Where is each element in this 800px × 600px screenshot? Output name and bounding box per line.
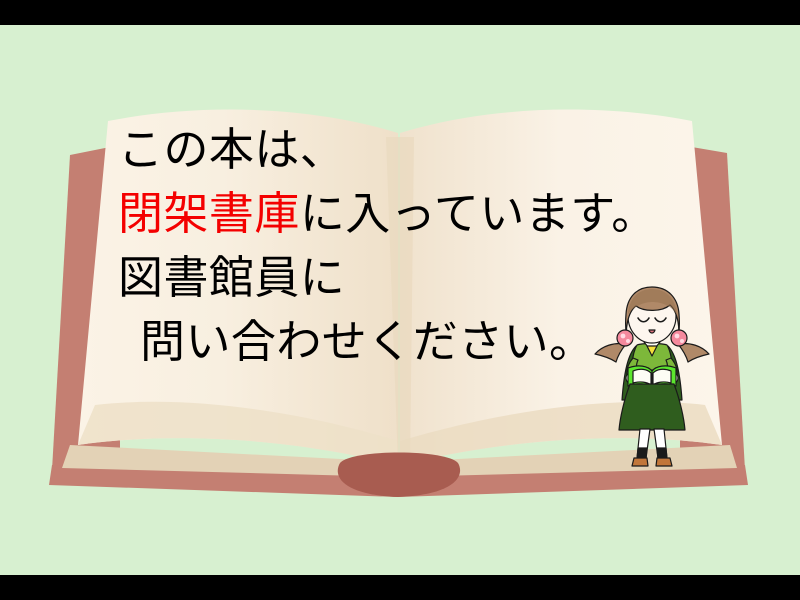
reading-girl-illustration xyxy=(592,272,712,472)
mouth xyxy=(649,330,655,333)
letterbox-bottom xyxy=(0,575,800,600)
skirt xyxy=(619,384,685,430)
scrunchie-left xyxy=(617,330,633,346)
scrunchie-right xyxy=(671,330,687,346)
screenshot-canvas: この本は、 閉架書庫に入っています。 図書館員に 問い合わせください。 xyxy=(0,0,800,600)
notice-line-2: 閉架書庫に入っています。 xyxy=(118,182,698,246)
pigtail-left xyxy=(595,343,626,362)
shoe-left xyxy=(632,458,648,466)
sock-cuff-left xyxy=(637,448,647,459)
sock-cuff-right xyxy=(657,448,667,459)
pigtail-right xyxy=(678,343,709,362)
shoe-right xyxy=(656,458,672,466)
notice-line-1: この本は、 xyxy=(118,118,698,182)
closed-stacks-highlight: 閉架書庫 xyxy=(118,188,300,239)
notice-line-2-suffix: に入っています。 xyxy=(300,188,657,239)
letterbox-top xyxy=(0,0,800,25)
